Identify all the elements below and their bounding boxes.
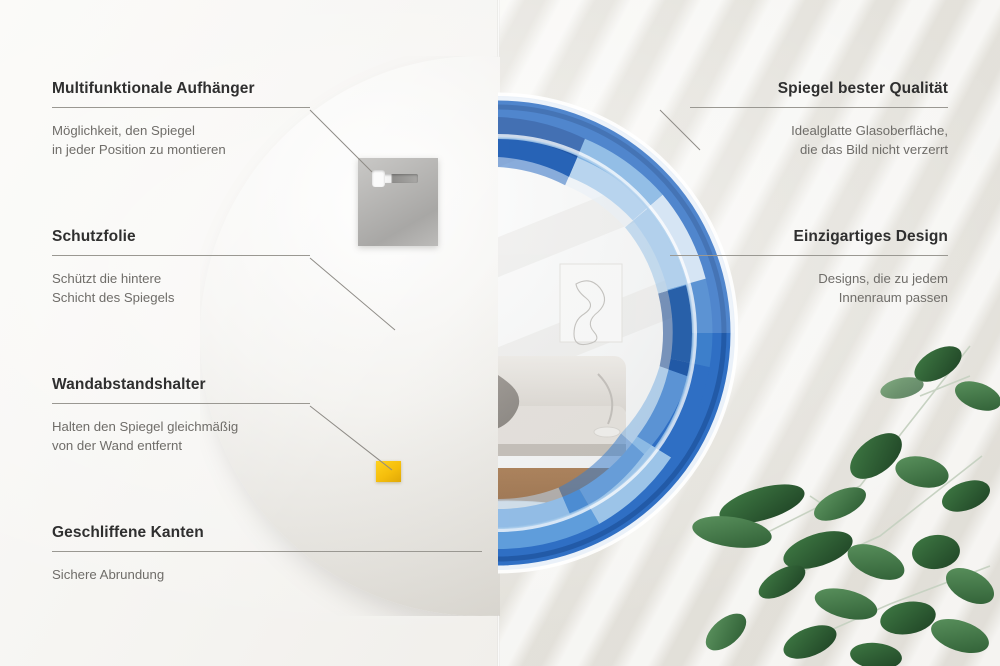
plant-decoration	[670, 336, 1000, 666]
callout-description: Halten den Spiegel gleichmäßig von der W…	[52, 417, 310, 455]
callout-description: Schützt die hintere Schicht des Spiegels	[52, 269, 310, 307]
callout-title: Einzigartiges Design	[690, 228, 948, 246]
callout-title: Schutzfolie	[52, 228, 310, 246]
callout-title: Spiegel bester Qualität	[690, 80, 948, 98]
callout-rule	[52, 403, 310, 404]
callout-description: Idealglatte Glasoberfläche, die das Bild…	[690, 121, 948, 159]
callout-description: Sichere Abrundung	[52, 565, 482, 584]
callout-rule	[52, 551, 482, 552]
callout-description: Designs, die zu jedem Innenraum passen	[690, 269, 948, 307]
callout-wandabstandshalter: Wandabstandshalter Halten den Spiegel gl…	[52, 376, 310, 455]
callout-title: Geschliffene Kanten	[52, 524, 482, 542]
callout-title: Multifunktionale Aufhänger	[52, 80, 310, 98]
infographic-canvas: Multifunktionale Aufhänger Möglichkeit, …	[0, 0, 1000, 666]
callout-rule	[52, 107, 310, 108]
callout-title: Wandabstandshalter	[52, 376, 310, 394]
callout-schutzfolie: Schutzfolie Schützt die hintere Schicht …	[52, 228, 310, 307]
callout-rule	[52, 255, 310, 256]
callout-spiegel-bester-qualitaet: Spiegel bester Qualität Idealglatte Glas…	[690, 80, 948, 159]
callout-geschliffene-kanten: Geschliffene Kanten Sichere Abrundung	[52, 524, 482, 584]
callout-rule	[670, 255, 948, 256]
callout-description: Möglichkeit, den Spiegel in jeder Positi…	[52, 121, 310, 159]
callout-einzigartiges-design: Einzigartiges Design Designs, die zu jed…	[690, 228, 948, 307]
callout-rule	[690, 107, 948, 108]
callout-multifunktionale-aufhaenger: Multifunktionale Aufhänger Möglichkeit, …	[52, 80, 310, 159]
